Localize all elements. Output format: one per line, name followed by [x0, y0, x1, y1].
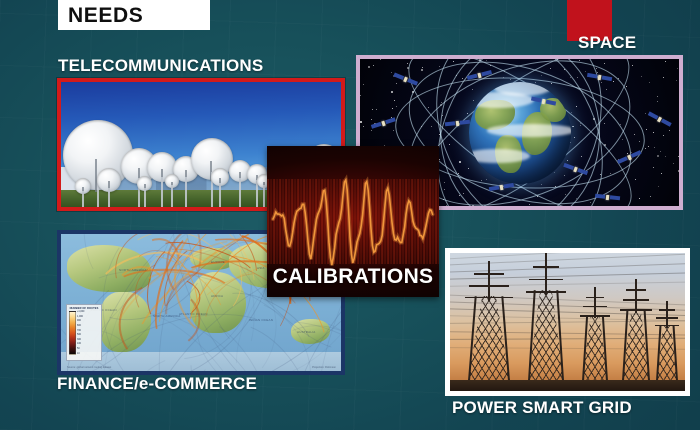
tower-crossarm [474, 273, 504, 275]
satellite [657, 117, 662, 123]
caption-telecommunications: TELECOMMUNICATIONS [58, 56, 263, 76]
dish-mount [82, 191, 84, 207]
map-legend-tick: 100 [77, 343, 99, 345]
slide-title-box: NEEDS [58, 0, 210, 30]
dish-mount [239, 178, 241, 207]
tower-mast [594, 287, 596, 318]
tower-crossarm [655, 325, 680, 327]
power-image-inner [450, 253, 685, 391]
map-region-label: INDIAN OCEAN [249, 318, 273, 322]
dish-mount [108, 188, 110, 207]
satellite [456, 121, 460, 126]
tower-crossarm [465, 297, 512, 299]
star [407, 63, 408, 64]
star [676, 80, 677, 81]
satellite [542, 99, 546, 105]
star [396, 106, 397, 107]
transmission-tower [468, 263, 510, 381]
map-legend-body: +1,0001,0009008007005003001005010 [69, 311, 99, 355]
star [372, 109, 373, 110]
map-legend-tick: 10 [77, 353, 99, 355]
star [677, 68, 678, 69]
tower-crossarm [623, 299, 650, 301]
map-region-label: ATLANTIC OCEAN [179, 312, 208, 316]
dish-mount [171, 185, 173, 207]
map-legend-tick: 700 [77, 330, 99, 332]
satellite [403, 77, 408, 83]
map-legend-tick: 300 [77, 339, 99, 341]
earth-globe [469, 82, 571, 184]
map-region-label: AUSTRALIA [297, 330, 315, 334]
tower-crossarm [580, 315, 609, 317]
map-legend-tick: 50 [77, 348, 99, 350]
star [669, 130, 670, 131]
dish-mount [185, 177, 187, 207]
satellite [573, 167, 578, 173]
map-credit-left: Source: global network routing dataset [67, 366, 111, 369]
map-legend-title: NUMBER OF ROUTES [69, 307, 99, 310]
map-region-label: ASIA [257, 266, 265, 270]
tower-mast [545, 253, 547, 295]
tower-crossarm [656, 317, 677, 319]
caption-space: SPACE [578, 33, 636, 53]
map-legend-tick: 1,000 [77, 316, 99, 318]
tower-crossarm [469, 285, 509, 287]
tower-crossarm [583, 306, 608, 308]
star [649, 82, 650, 83]
star [380, 59, 381, 60]
map-legend-tick: 500 [77, 334, 99, 336]
map-region-label: AFRICA [211, 294, 223, 298]
map-region-label: SOUTH AMERICA [153, 314, 180, 318]
calibrations-label: CALIBRATIONS [267, 265, 439, 289]
star [650, 196, 651, 197]
slide-canvas: NEEDS [0, 0, 700, 430]
satellite [500, 185, 504, 190]
map-credit-right: Projection: Robinson [312, 366, 336, 369]
transmission-tower [582, 289, 608, 381]
star [678, 170, 679, 172]
satellite [606, 195, 610, 200]
page-title: NEEDS [68, 5, 143, 26]
star [653, 167, 654, 168]
tower-crossarm [529, 279, 564, 281]
star [646, 129, 647, 130]
dish-mount [161, 177, 163, 207]
dish-mount [219, 183, 221, 207]
star [665, 156, 666, 157]
star [654, 147, 655, 148]
satellite [598, 75, 602, 80]
star [678, 156, 679, 157]
satellite [477, 73, 481, 79]
map-legend-tick: 800 [77, 325, 99, 327]
tower-crossarm [586, 297, 605, 299]
tower-mast [635, 279, 637, 313]
map-legend: NUMBER OF ROUTES +1,0001,000900800700500… [66, 304, 102, 361]
tower-crossarm [533, 266, 559, 268]
power-grid-image [445, 248, 690, 396]
star [665, 61, 666, 62]
tower-mast [488, 261, 490, 301]
map-legend-ticks: +1,0001,0009008007005003001005010 [76, 311, 99, 355]
dish-mount [144, 188, 146, 207]
tower-crossarm [526, 291, 566, 293]
tower-crossarm [620, 309, 651, 311]
tower-crossarm [626, 289, 646, 291]
map-legend-tick: 900 [77, 320, 99, 322]
caption-finance: FINANCE/e-COMMERCE [57, 374, 257, 394]
power-ground [450, 380, 685, 391]
caption-power-smart-grid: POWER SMART GRID [452, 398, 632, 418]
map-region-label: NORTH AMERICA [119, 268, 147, 272]
dish-mount [263, 185, 265, 207]
map-legend-color-scale [69, 311, 76, 355]
transmission-tower [622, 281, 650, 381]
map-region-label: EUROPE [211, 260, 225, 264]
tower-crossarm [659, 309, 675, 311]
satellite [381, 121, 385, 127]
transmission-tower [656, 303, 678, 381]
map-legend-tick: +1,000 [77, 311, 99, 313]
calibrations-panel: CALIBRATIONS [267, 146, 439, 297]
star [363, 126, 364, 127]
transmission-tower [528, 255, 564, 381]
star [657, 155, 659, 157]
